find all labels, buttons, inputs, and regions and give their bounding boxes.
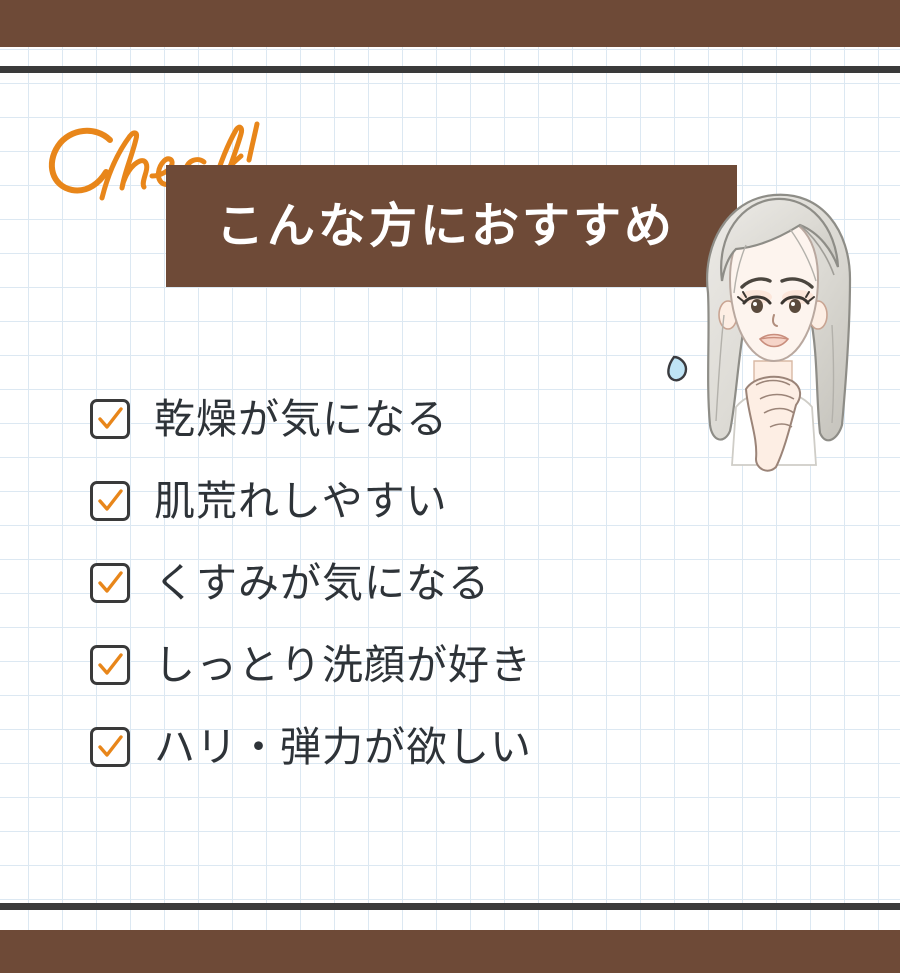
dark-rule-bottom bbox=[0, 903, 900, 910]
checkbox-checked-icon[interactable] bbox=[90, 399, 130, 439]
checklist: 乾燥が気になる 肌荒れしやすい くすみが気になる bbox=[90, 378, 710, 788]
list-item-label: くすみが気になる bbox=[154, 563, 490, 604]
list-item-label: ハリ・弾力が欲しい bbox=[154, 727, 532, 768]
list-item[interactable]: 乾燥が気になる bbox=[90, 378, 710, 460]
checkbox-checked-icon[interactable] bbox=[90, 645, 130, 685]
list-item-label: 肌荒れしやすい bbox=[154, 481, 448, 522]
list-item[interactable]: 肌荒れしやすい bbox=[90, 460, 710, 542]
list-item-label: しっとり洗顔が好き bbox=[154, 645, 532, 686]
brown-bar-bottom bbox=[0, 930, 900, 973]
sweat-drop bbox=[668, 357, 686, 380]
list-item[interactable]: しっとり洗顔が好き bbox=[90, 624, 710, 706]
dark-rule-top bbox=[0, 66, 900, 73]
checkbox-checked-icon[interactable] bbox=[90, 563, 130, 603]
list-item[interactable]: くすみが気になる bbox=[90, 542, 710, 624]
list-item-label: 乾燥が気になる bbox=[154, 399, 448, 440]
list-item[interactable]: ハリ・弾力が欲しい bbox=[90, 706, 710, 788]
checkbox-checked-icon[interactable] bbox=[90, 481, 130, 521]
page-title: こんな方におすすめ bbox=[166, 202, 675, 250]
brown-bar-top bbox=[0, 0, 900, 47]
checkbox-checked-icon[interactable] bbox=[90, 727, 130, 767]
page-root: こんな方におすすめ bbox=[0, 0, 900, 973]
